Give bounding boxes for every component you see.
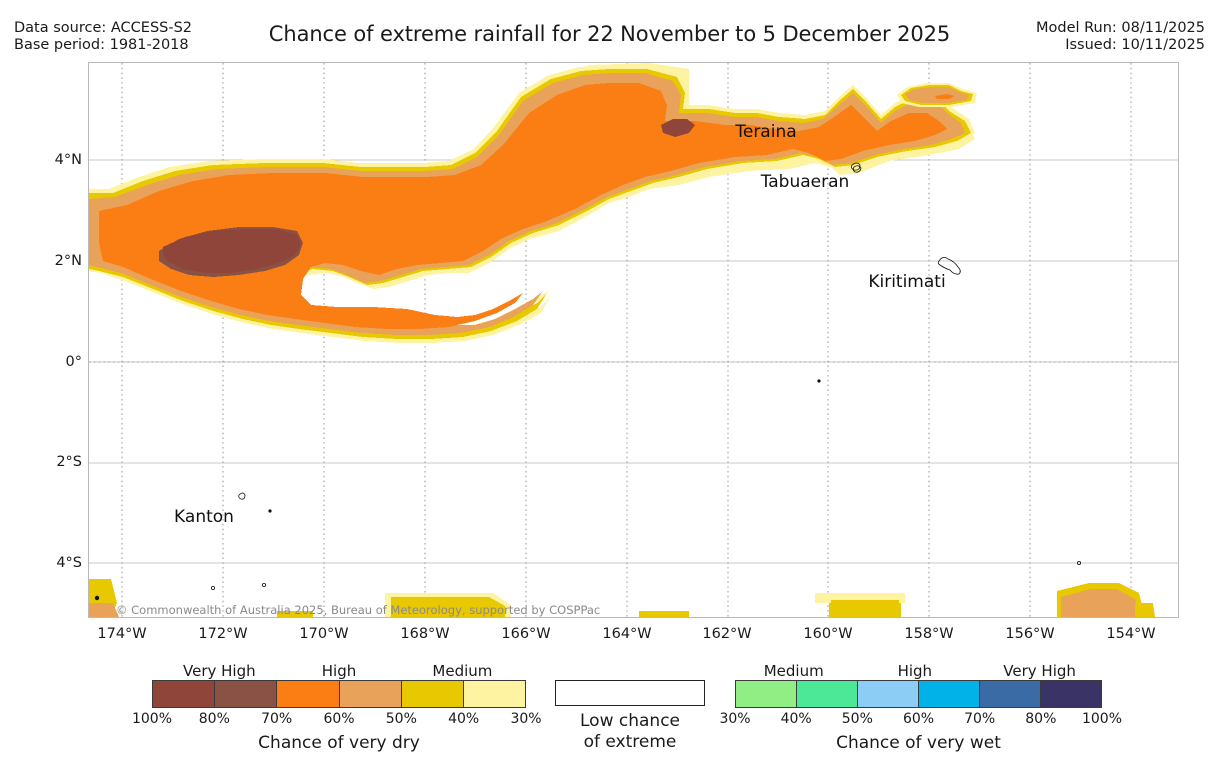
legend-very-dry: Very HighHighMedium 100%80%70%60%50%40%3… [152, 662, 526, 753]
legend-wet-category-0: Medium [764, 662, 824, 680]
legend-wet-ticks: 30%40%50%60%70%80%100% [735, 711, 1102, 731]
legend-wet-swatch-4[interactable] [980, 681, 1041, 707]
lon-label-6: 162°W [702, 626, 751, 642]
lon-label-7: 160°W [803, 626, 852, 642]
legend-wet-swatch-0[interactable] [736, 681, 797, 707]
legend-dry-swatch-4[interactable] [402, 681, 464, 707]
legend-dry-swatch-1[interactable] [215, 681, 277, 707]
legend-dry-tick-3: 60% [323, 711, 354, 727]
legend-wet-swatch-1[interactable] [797, 681, 858, 707]
legend-wet-tick-1: 40% [781, 711, 812, 727]
legend-wet-tick-3: 60% [903, 711, 934, 727]
legend-low-caption-line2: of extreme [555, 732, 705, 753]
lat-label-4: 4°S [56, 555, 82, 571]
place-label-tabuaeran: Tabuaeran [761, 172, 850, 192]
map-plot-area[interactable] [88, 62, 1179, 618]
legend-dry-tick-1: 80% [199, 711, 230, 727]
lat-label-3: 2°S [56, 454, 82, 470]
legend-dry-caption: Chance of very dry [152, 733, 526, 753]
legend-wet-tick-6: 100% [1082, 711, 1122, 727]
legend-wet-colorbar [735, 680, 1102, 708]
legend-dry-tick-4: 50% [386, 711, 417, 727]
place-label-teraina: Teraina [735, 122, 796, 142]
map-svg [89, 63, 1178, 617]
legend-low-swatch [555, 680, 705, 706]
lon-label-5: 164°W [602, 626, 651, 642]
lon-label-9: 156°W [1005, 626, 1054, 642]
legend-wet-swatch-2[interactable] [858, 681, 919, 707]
lat-label-1: 2°N [55, 253, 82, 269]
legend-wet-tick-5: 80% [1025, 711, 1056, 727]
lon-label-8: 158°W [904, 626, 953, 642]
legend-dry-ticks: 100%80%70%60%50%40%30% [152, 711, 526, 731]
lon-label-2: 170°W [299, 626, 348, 642]
legend-wet-tick-2: 50% [842, 711, 873, 727]
legend-dry-categories: Very HighHighMedium [152, 662, 526, 680]
legend-wet-tick-0: 30% [719, 711, 750, 727]
legend-wet-tick-4: 70% [964, 711, 995, 727]
lat-label-0: 4°N [55, 152, 82, 168]
legend-dry-category-0: Very High [183, 662, 256, 680]
legend-wet-category-2: Very High [1003, 662, 1076, 680]
legend-wet-category-1: High [898, 662, 932, 680]
legend-dry-tick-2: 70% [261, 711, 292, 727]
legend-dry-swatch-3[interactable] [340, 681, 402, 707]
legend-dry-tick-5: 40% [448, 711, 479, 727]
legend-wet-swatch-3[interactable] [919, 681, 980, 707]
lon-label-10: 154°W [1106, 626, 1155, 642]
legend-wet-caption: Chance of very wet [735, 733, 1102, 753]
map-attribution: © Commonwealth of Australia 2025, Bureau… [116, 603, 600, 617]
place-label-kanton: Kanton [174, 507, 234, 527]
legend-low-chance: Low chance of extreme [555, 680, 705, 753]
lon-label-4: 166°W [501, 626, 550, 642]
legend-very-wet: MediumHighVery High 30%40%50%60%70%80%10… [735, 662, 1102, 753]
legend-dry-swatch-0[interactable] [153, 681, 215, 707]
legend-dry-colorbar [152, 680, 526, 708]
page-title: Chance of extreme rainfall for 22 Novemb… [0, 22, 1219, 46]
legend-dry-tick-0: 100% [132, 711, 172, 727]
legend-wet-categories: MediumHighVery High [735, 662, 1102, 680]
lon-label-1: 172°W [198, 626, 247, 642]
dry-contour-shading [89, 63, 1155, 617]
legend-dry-category-1: High [322, 662, 356, 680]
lon-label-3: 168°W [400, 626, 449, 642]
lat-label-2: 0° [66, 354, 82, 370]
legend-dry-tick-6: 30% [510, 711, 541, 727]
place-label-kiritimati: Kiritimati [868, 272, 945, 292]
legend-wet-swatch-5[interactable] [1041, 681, 1101, 707]
lon-label-0: 174°W [97, 626, 146, 642]
legend-dry-swatch-5[interactable] [464, 681, 525, 707]
legend-dry-category-2: Medium [432, 662, 492, 680]
legend-low-caption-line1: Low chance [555, 711, 705, 732]
legend-low-caption: Low chance of extreme [555, 711, 705, 753]
legend-dry-swatch-2[interactable] [277, 681, 339, 707]
